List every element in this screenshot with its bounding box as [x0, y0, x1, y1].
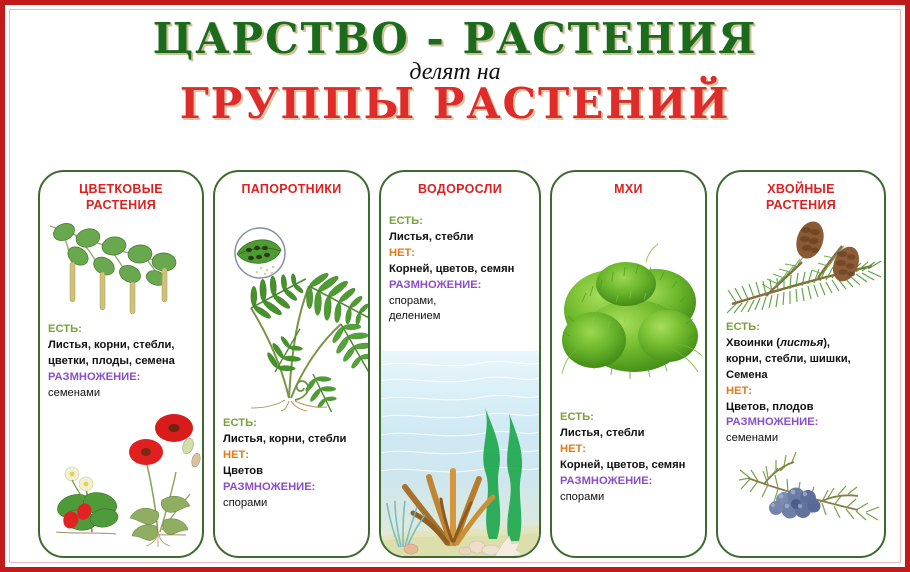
label-has-not: НЕТ:	[726, 384, 876, 400]
label-has-not: НЕТ:	[389, 246, 531, 262]
card-title-line2: РАСТЕНИЯ	[46, 198, 196, 214]
facts-algae: ЕСТЬ: Листья, стебли НЕТ: Корней, цветов…	[381, 214, 539, 325]
card-title-ferns: ПАПОРОТНИКИ	[215, 172, 368, 198]
card-title-conifers: ХВОЙНЫЕ РАСТЕНИЯ	[718, 172, 884, 213]
card-title-line1: МХИ	[558, 182, 699, 198]
card-title-algae: ВОДОРОСЛИ	[381, 172, 539, 198]
has-line-1: Листья, корни, стебли,	[48, 338, 194, 354]
green-seaweed	[483, 407, 522, 541]
card-title-line1: ПАПОРОТНИКИ	[221, 182, 362, 198]
card-title-line1: ЦВЕТКОВЫЕ	[46, 182, 196, 198]
page-title-main: ЦАРСТВО - РАСТЕНИЯ	[10, 18, 900, 60]
underwater-artwork	[381, 351, 539, 556]
card-conifers[interactable]: ХВОЙНЫЕ РАСТЕНИЯ	[716, 170, 886, 558]
reproduction-line-1: спорами	[560, 490, 697, 506]
juniper-berries	[769, 488, 821, 519]
poster-header: ЦАРСТВО - РАСТЕНИЯ делят на ГРУППЫ РАСТЕ…	[10, 10, 900, 125]
has-line-1: Листья, корни, стебли	[223, 432, 360, 448]
sori-magnifier-circle-icon	[227, 226, 293, 284]
label-has: ЕСТЬ:	[560, 410, 697, 426]
pine-cone	[792, 218, 828, 262]
label-has: ЕСТЬ:	[223, 416, 360, 432]
facts-flowering: ЕСТЬ: Листья, корни, стебли, цветки, пло…	[40, 322, 202, 402]
has-line-1: Хвоинки (листья),	[726, 336, 876, 352]
card-algae[interactable]: ВОДОРОСЛИ ЕСТЬ: Листья, стебли НЕТ: Корн…	[379, 170, 541, 558]
label-reproduction: РАЗМНОЖЕНИЕ:	[726, 415, 876, 431]
moss-cushion-image	[556, 232, 704, 402]
has-line-3: Семена	[726, 368, 876, 384]
label-has: ЕСТЬ:	[389, 214, 531, 230]
card-title-mosses: МХИ	[552, 172, 705, 198]
page-title-second: ГРУППЫ РАСТЕНИЙ	[10, 83, 900, 125]
card-flowering-plants[interactable]: ЦВЕТКОВЫЕ РАСТЕНИЯ	[38, 170, 204, 558]
label-reproduction: РАЗМНОЖЕНИЕ:	[48, 370, 194, 386]
label-has-not: НЕТ:	[223, 448, 360, 464]
reproduction-line-1: спорами	[223, 496, 360, 512]
label-has: ЕСТЬ:	[726, 320, 876, 336]
reproduction-line-1: спорами,	[389, 294, 531, 310]
strawberry-and-poppy-image	[46, 408, 202, 548]
juniper-branch-with-berries-image	[724, 444, 882, 544]
label-reproduction: РАЗМНОЖЕНИЕ:	[389, 278, 531, 294]
label-has: ЕСТЬ:	[48, 322, 194, 338]
card-title-line2: РАСТЕНИЯ	[724, 198, 878, 214]
card-title-flowering: ЦВЕТКОВЫЕ РАСТЕНИЯ	[40, 172, 202, 213]
card-mosses[interactable]: МХИ	[550, 170, 707, 558]
spruce-branch-with-cones-image	[722, 216, 886, 326]
pine-cone	[828, 243, 864, 285]
card-title-line1: ХВОЙНЫЕ	[724, 182, 878, 198]
card-ferns[interactable]: ПАПОРОТНИКИ	[213, 170, 370, 558]
birch-branch-with-catkins-image	[44, 216, 204, 316]
reproduction-line-1: семенами	[48, 386, 194, 402]
label-has-not: НЕТ:	[560, 442, 697, 458]
reproduction-line-2: делением	[389, 309, 531, 325]
has-line-1: Листья, стебли	[560, 426, 697, 442]
plant-group-cards: ЦВЕТКОВЫЕ РАСТЕНИЯ	[38, 170, 884, 558]
has-not-line-1: Цветов	[223, 464, 360, 480]
has-line-1: Листья, стебли	[389, 230, 531, 246]
underwater-scene-image	[381, 351, 539, 556]
has-line-2: цветки, плоды, семена	[48, 354, 194, 370]
facts-conifers: ЕСТЬ: Хвоинки (листья), корни, стебли, ш…	[718, 320, 884, 447]
has-line-2: корни, стебли, шишки,	[726, 352, 876, 368]
facts-mosses: ЕСТЬ: Листья, стебли НЕТ: Корней, цветов…	[552, 410, 705, 505]
poster-inner-frame: ЦАРСТВО - РАСТЕНИЯ делят на ГРУППЫ РАСТЕ…	[9, 9, 901, 563]
has-not-line-1: Цветов, плодов	[726, 400, 876, 416]
card-title-line1: ВОДОРОСЛИ	[387, 182, 533, 198]
has-not-line-1: Корней, цветов, семян	[389, 262, 531, 278]
label-reproduction: РАЗМНОЖЕНИЕ:	[223, 480, 360, 496]
facts-ferns: ЕСТЬ: Листья, корни, стебли НЕТ: Цветов …	[215, 416, 368, 511]
fern-frond-image	[217, 212, 370, 412]
has-not-line-1: Корней, цветов, семян	[560, 458, 697, 474]
reproduction-line-1: семенами	[726, 431, 876, 447]
poster-root: ЦАРСТВО - РАСТЕНИЯ делят на ГРУППЫ РАСТЕ…	[0, 0, 910, 572]
has-line-1-text: Хвоинки (листья),	[726, 337, 830, 349]
label-reproduction: РАЗМНОЖЕНИЕ:	[560, 474, 697, 490]
